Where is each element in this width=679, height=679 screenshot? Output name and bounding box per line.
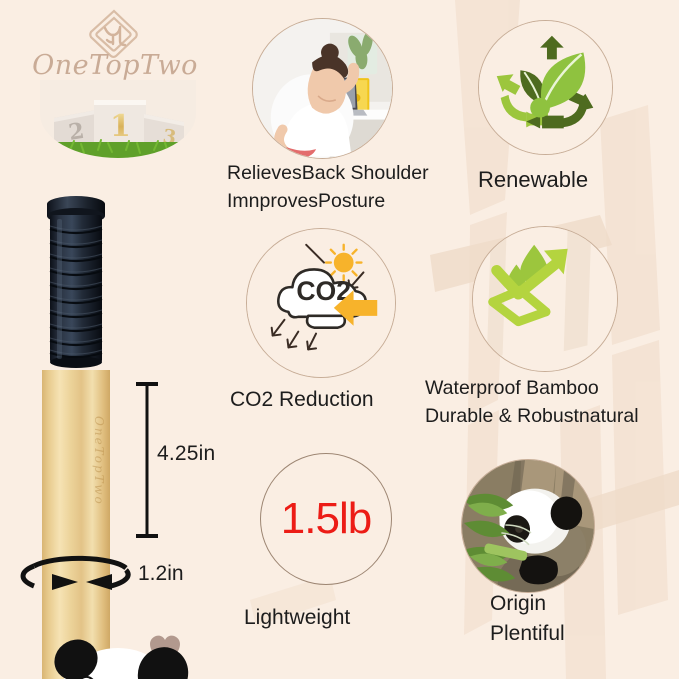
infographic-canvas: OneTopTwo 2 1 (0, 0, 679, 679)
leaf-recycle-icon (478, 20, 613, 155)
feature-posture-label: RelievesBack Shoulder ImnprovesPosture (227, 160, 477, 215)
woman-back-pain-photo (252, 18, 393, 159)
feature-waterproof-label: Waterproof Bamboo Durable & Robustnatura… (425, 375, 679, 430)
weight-value: 1.5lb (260, 453, 392, 585)
panda-eating-bamboo-photo (461, 459, 595, 593)
winner-podium-photo: 2 1 3 (38, 80, 198, 160)
ribbed-rubber-grip (41, 193, 111, 373)
water-droplet-repellent-icon (472, 226, 618, 372)
feature-lightweight-label: Lightweight (244, 603, 444, 633)
brand-wordmark: OneTopTwo (8, 50, 222, 81)
dimension-grip-length: 4.25in (133, 380, 229, 540)
panda-plush-clinging-to-pole (0, 610, 225, 679)
svg-text:1: 1 (110, 109, 131, 144)
feature-grid: RelievesBack Shoulder ImnprovesPosture (222, 0, 679, 679)
feature-renewable-label: Renewable (478, 164, 679, 195)
pole-engraving-text: OneTopTwo (46, 376, 106, 546)
product-illustration: OneTopTwo (0, 180, 230, 679)
dimension-pole-diameter-label: 1.2in (138, 562, 184, 586)
feature-origin-label: Origin Plentiful (490, 589, 679, 649)
dimension-pole-diameter: 1.2in (8, 548, 228, 602)
brand-logo-block: OneTopTwo 2 1 (8, 2, 222, 162)
co2-cloud-reduction-icon: CO2 (246, 228, 396, 378)
dimension-grip-length-label: 4.25in (157, 442, 215, 466)
